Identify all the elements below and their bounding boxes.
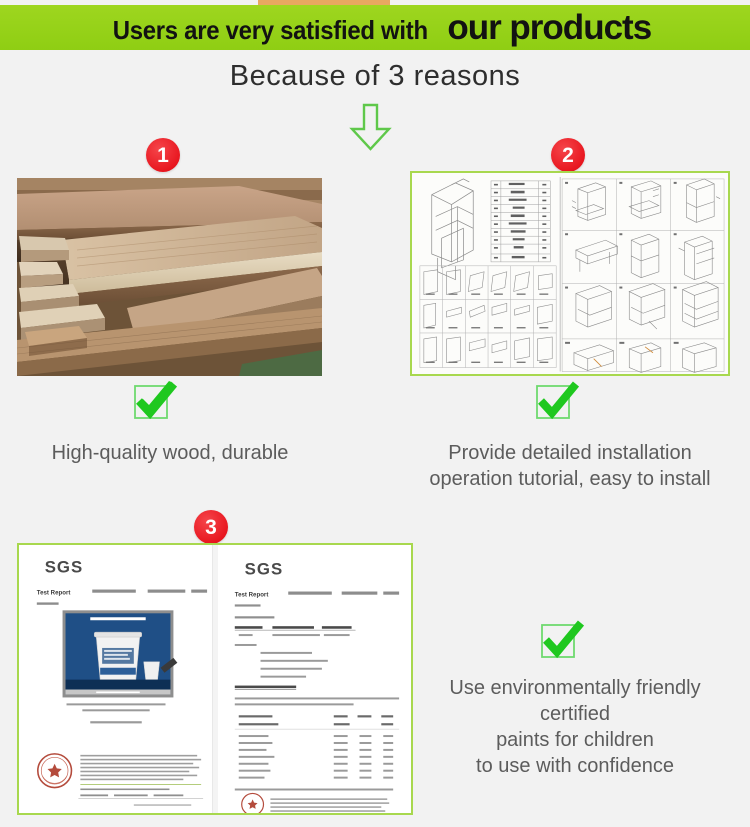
svg-text:SGS: SGS — [45, 558, 83, 577]
down-arrow-icon — [348, 103, 393, 151]
caption-line: Use environmentally friendly — [405, 675, 745, 701]
caption-line: Provide detailed installation — [400, 440, 740, 466]
header-title-big: our products — [447, 8, 651, 47]
subtitle: Because of 3 reasons — [0, 60, 750, 93]
reason-number-badge-2: 2 — [551, 138, 585, 172]
reason-caption-3: Use environmentally friendly certified p… — [405, 675, 745, 779]
header-title-small: Users are very satisfied with — [113, 15, 428, 46]
svg-text:Test Report: Test Report — [37, 589, 71, 596]
caption-line: paints for children — [405, 727, 745, 753]
assembly-instructions-sheet — [410, 171, 730, 376]
header-banner: Users are very satisfied withour product… — [0, 5, 750, 50]
reason-number-badge-3: 3 — [194, 510, 228, 544]
green-check-icon-1 — [133, 381, 177, 425]
caption-line: operation tutorial, easy to install — [400, 466, 740, 492]
header-title: Users are very satisfied withour product… — [99, 8, 651, 48]
reason-number-badge-1: 1 — [146, 138, 180, 172]
caption-line: certified — [405, 701, 745, 727]
svg-text:SGS: SGS — [245, 560, 283, 579]
caption-line: to use with confidence — [405, 753, 745, 779]
reason-caption-1: High-quality wood, durable — [10, 440, 330, 466]
svg-text:Test Report: Test Report — [235, 591, 269, 598]
green-check-icon-3 — [540, 620, 584, 664]
reason-caption-2: Provide detailed installation operation … — [400, 440, 740, 492]
wood-boards-photo — [17, 178, 322, 376]
sgs-test-report-document: SGS Test Report — [17, 543, 413, 815]
green-check-icon-2 — [535, 381, 579, 425]
caption-line: High-quality wood, durable — [10, 440, 330, 466]
